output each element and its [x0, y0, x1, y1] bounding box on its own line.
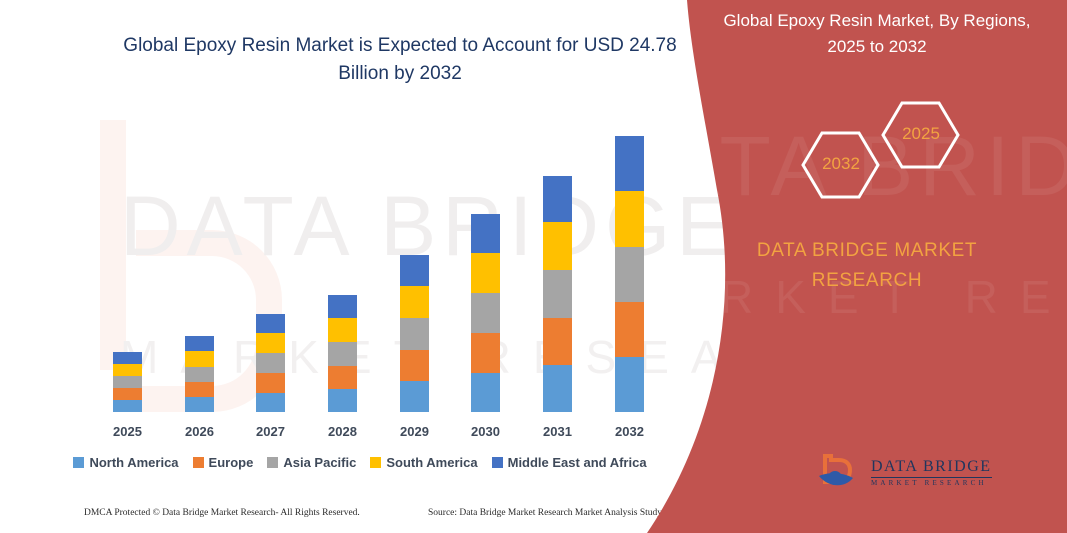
bar-segment-2025-north-america	[113, 400, 142, 412]
bar-segment-2030-europe	[471, 333, 500, 373]
bar-segment-2025-asia-pacific	[113, 376, 142, 388]
bar-2026	[185, 336, 214, 412]
bar-2028	[328, 295, 357, 412]
bar-segment-2031-europe	[543, 318, 572, 365]
dbmr-logo-sub: MARKET RESEARCH	[871, 479, 992, 487]
legend-swatch-icon	[267, 457, 278, 468]
bar-segment-2031-south-america	[543, 222, 572, 270]
infographic-root: DATA BRIDGE MARKET RESEARCH Global Epoxy…	[0, 0, 1067, 533]
dbmr-logo-main: DATA BRIDGE	[871, 458, 992, 475]
dbmr-logo-text: DATA BRIDGE MARKET RESEARCH	[871, 458, 992, 487]
bar-segment-2028-middle-east-and-africa	[328, 295, 357, 318]
bar-segment-2026-north-america	[185, 397, 214, 412]
bar-segment-2032-middle-east-and-africa	[615, 136, 644, 191]
x-axis-label-2031: 2031	[528, 424, 588, 439]
bar-segment-2026-south-america	[185, 351, 214, 367]
bar-segment-2032-south-america	[615, 191, 644, 247]
legend-swatch-icon	[193, 457, 204, 468]
legend-item-asia-pacific[interactable]: Asia Pacific	[267, 455, 356, 470]
legend-item-south-america[interactable]: South America	[370, 455, 477, 470]
bar-segment-2030-middle-east-and-africa	[471, 214, 500, 253]
bar-segment-2029-middle-east-and-africa	[400, 255, 429, 286]
legend-label: South America	[386, 455, 477, 470]
bar-segment-2031-north-america	[543, 365, 572, 412]
panel-brand: DATA BRIDGE MARKET RESEARCH	[687, 236, 1047, 296]
bar-segment-2027-middle-east-and-africa	[256, 314, 285, 333]
bar-segment-2029-north-america	[400, 381, 429, 412]
legend-item-north-america[interactable]: North America	[73, 455, 178, 470]
x-axis-label-2025: 2025	[98, 424, 158, 439]
x-axis-label-2029: 2029	[385, 424, 445, 439]
dbmr-logo-icon	[817, 452, 861, 492]
chart-legend: North AmericaEuropeAsia PacificSouth Ame…	[0, 455, 720, 470]
legend-item-europe[interactable]: Europe	[193, 455, 254, 470]
x-axis-labels: 20252026202720282029203020312032	[0, 424, 720, 444]
bar-segment-2026-middle-east-and-africa	[185, 336, 214, 351]
bar-2031	[543, 176, 572, 412]
bar-segment-2030-south-america	[471, 253, 500, 293]
bar-2030	[471, 214, 500, 412]
legend-label: Asia Pacific	[283, 455, 356, 470]
bar-segment-2025-south-america	[113, 364, 142, 376]
panel-title: Global Epoxy Resin Market, By Regions, 2…	[707, 8, 1047, 60]
legend-label: North America	[89, 455, 178, 470]
chart-title: Global Epoxy Resin Market is Expected to…	[110, 32, 690, 88]
bar-segment-2028-europe	[328, 366, 357, 389]
hexagon-label-2032: 2032	[801, 154, 881, 174]
legend-swatch-icon	[370, 457, 381, 468]
panel-brand-line-2: RESEARCH	[687, 266, 1047, 296]
bar-segment-2031-asia-pacific	[543, 270, 572, 318]
bar-segment-2030-asia-pacific	[471, 293, 500, 333]
hexagon-group: 2032 2025	[747, 95, 1047, 205]
x-axis-label-2026: 2026	[170, 424, 230, 439]
bar-2032	[615, 136, 644, 412]
bar-segment-2027-europe	[256, 373, 285, 393]
legend-swatch-icon	[492, 457, 503, 468]
bar-segment-2032-asia-pacific	[615, 247, 644, 302]
bar-segment-2029-asia-pacific	[400, 318, 429, 350]
bar-2029	[400, 255, 429, 412]
bar-2025	[113, 352, 142, 412]
bar-segment-2027-south-america	[256, 333, 285, 353]
legend-swatch-icon	[73, 457, 84, 468]
hexagon-shapes	[747, 95, 1047, 205]
bar-segment-2026-asia-pacific	[185, 367, 214, 382]
footer-copyright: DMCA Protected © Data Bridge Market Rese…	[84, 508, 360, 518]
bar-segment-2029-europe	[400, 350, 429, 381]
bar-segment-2031-middle-east-and-africa	[543, 176, 572, 222]
dbmr-logo-rule	[871, 477, 992, 478]
footer-source: Source: Data Bridge Market Research Mark…	[428, 508, 683, 518]
bar-segment-2028-south-america	[328, 318, 357, 342]
panel-brand-line-1: DATA BRIDGE MARKET	[687, 236, 1047, 266]
bar-segment-2027-north-america	[256, 393, 285, 412]
x-axis-label-2027: 2027	[241, 424, 301, 439]
x-axis-label-2030: 2030	[456, 424, 516, 439]
bar-segment-2026-europe	[185, 382, 214, 397]
legend-label: Middle East and Africa	[508, 455, 647, 470]
bar-2027	[256, 314, 285, 412]
bar-segment-2029-south-america	[400, 286, 429, 318]
bar-segment-2027-asia-pacific	[256, 353, 285, 373]
hexagon-label-2025: 2025	[881, 124, 961, 144]
bar-segment-2025-middle-east-and-africa	[113, 352, 142, 364]
x-axis-label-2028: 2028	[313, 424, 373, 439]
bar-segment-2032-europe	[615, 302, 644, 357]
bar-segment-2032-north-america	[615, 357, 644, 412]
dbmr-logo: DATA BRIDGE MARKET RESEARCH	[817, 452, 992, 492]
bar-segment-2025-europe	[113, 388, 142, 400]
bar-segment-2028-asia-pacific	[328, 342, 357, 366]
right-panel: DATA BRIDGE MARKET RESEARCH Global Epoxy…	[647, 0, 1067, 533]
legend-item-middle-east-and-africa[interactable]: Middle East and Africa	[492, 455, 647, 470]
legend-label: Europe	[209, 455, 254, 470]
bar-segment-2030-north-america	[471, 373, 500, 412]
bar-segment-2028-north-america	[328, 389, 357, 412]
